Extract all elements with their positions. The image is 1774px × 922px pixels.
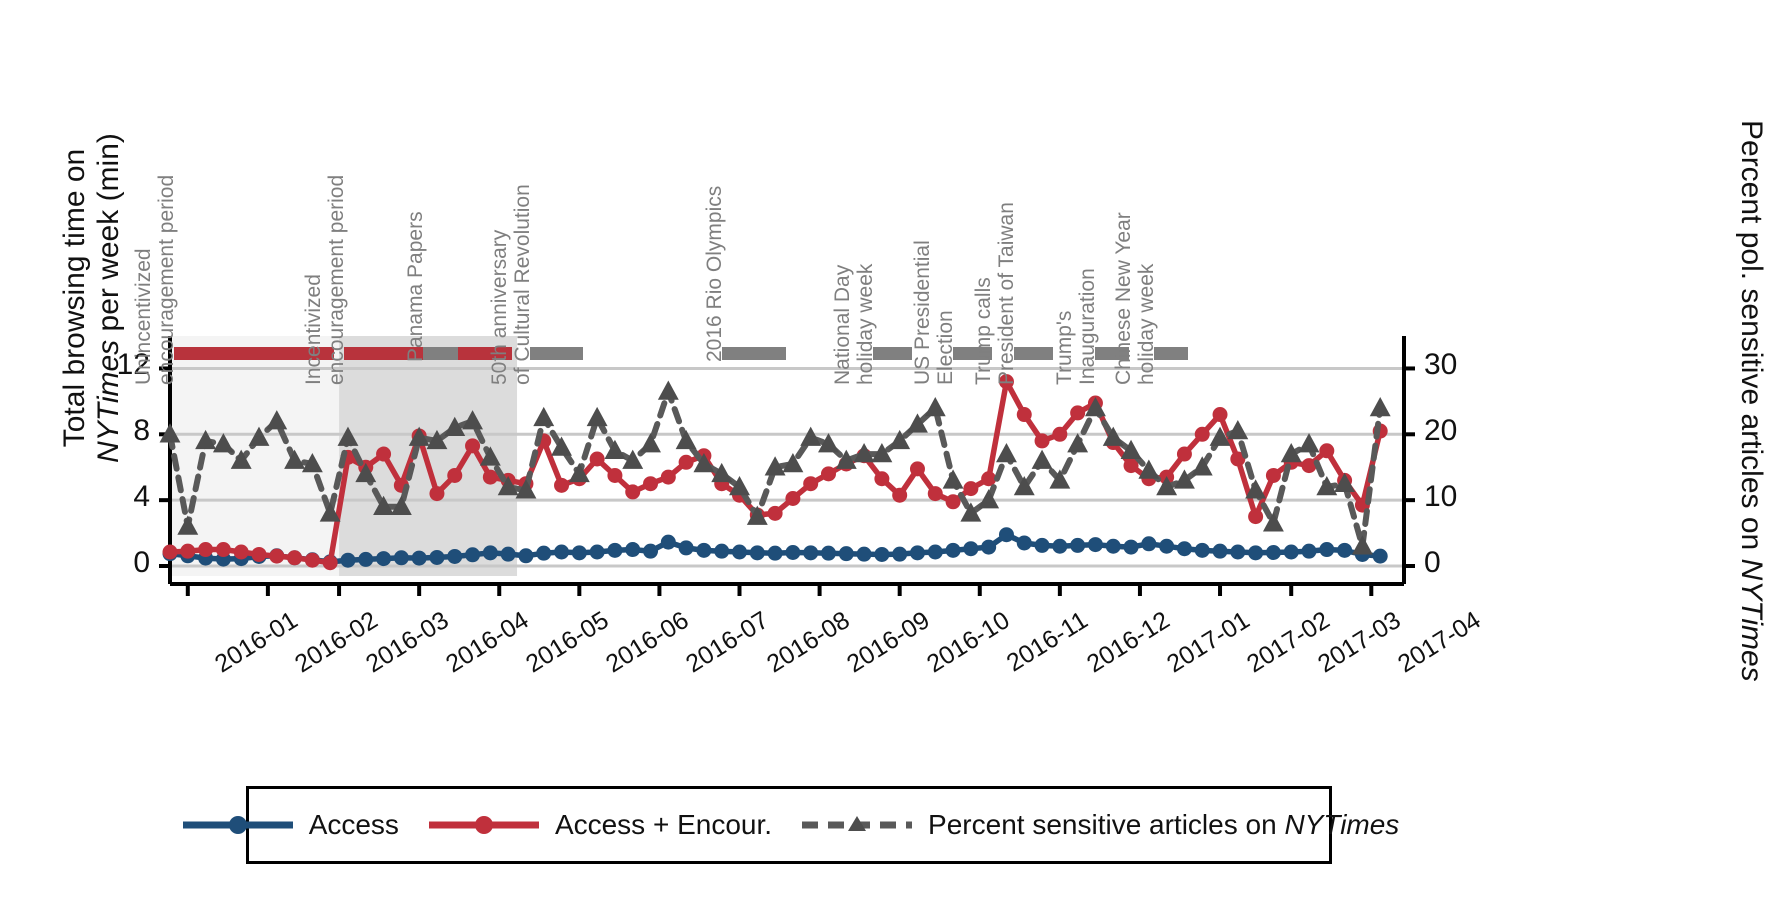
series-marker-0-68: [1373, 549, 1388, 564]
annotation-bar-chinese-new-year-holiday-week: [1154, 347, 1188, 360]
series-marker-0-50: [1052, 539, 1067, 554]
series-marker-2-51: [1067, 433, 1088, 452]
legend-label-access-encour: Access + Encour.: [555, 809, 772, 841]
series-marker-2-28: [658, 381, 679, 400]
series-marker-1-2: [198, 542, 213, 557]
series-marker-1-42: [910, 461, 925, 476]
series-marker-1-44: [946, 494, 961, 509]
series-marker-1-46: [981, 471, 996, 486]
annotation-line: encouragement period: [325, 175, 348, 385]
legend-swatch-access-encour: [425, 810, 543, 840]
series-marker-1-35: [785, 491, 800, 506]
y-axis-right-label: Percent pol. sensitive articles on NYTim…: [1708, 120, 1768, 500]
series-marker-0-63: [1284, 545, 1299, 560]
series-marker-2-68: [1370, 397, 1391, 416]
series-marker-2-43: [925, 397, 946, 416]
series-marker-1-36: [803, 476, 818, 491]
series-marker-0-18: [483, 545, 498, 560]
series-marker-1-65: [1319, 443, 1334, 458]
annotation-line: Unincentivized: [132, 175, 155, 385]
annotation-label-trump-calls-president-taiwan: Trump callsPresident of Taiwan: [972, 202, 1018, 385]
y-tick-label-left-0: 0: [90, 546, 150, 580]
series-marker-0-16: [447, 549, 462, 564]
y-tick-label-right-0: 0: [1424, 546, 1484, 580]
series-marker-1-64: [1302, 458, 1317, 473]
series-marker-1-24: [590, 452, 605, 467]
series-marker-0-41: [892, 547, 907, 562]
annotation-label-national-day-holiday-week: National Dayholiday week: [831, 264, 877, 385]
series-marker-1-1: [180, 544, 195, 559]
legend-item-access[interactable]: Access: [179, 809, 399, 841]
series-marker-0-52: [1088, 537, 1103, 552]
series-marker-2-44: [943, 469, 964, 488]
plot-canvas: [0, 0, 1774, 922]
annotation-line: encouragement period: [155, 175, 178, 385]
series-marker-0-60: [1230, 545, 1245, 560]
legend-label-percent-sensitive: Percent sensitive articles on NYTimes: [928, 809, 1399, 841]
annotation-line: 2016 Rio Olympics: [703, 186, 726, 362]
series-marker-1-50: [1052, 427, 1067, 442]
series-marker-0-33: [750, 545, 765, 560]
series-marker-0-55: [1141, 536, 1156, 551]
series-marker-0-36: [803, 545, 818, 560]
y-tick-label-right-10: 10: [1424, 480, 1484, 514]
annotation-label-trumps-inauguration: Trump'sInauguration: [1053, 268, 1099, 385]
series-marker-1-27: [643, 476, 658, 491]
series-marker-0-44: [946, 543, 961, 558]
series-marker-0-46: [981, 540, 996, 555]
y-tick-label-right-30: 30: [1424, 348, 1484, 382]
annotation-line: of Cultural Revolution: [511, 184, 534, 385]
annotation-bar-panama-papers: [423, 347, 459, 360]
annotation-line: Chinese New Year: [1112, 212, 1135, 385]
series-marker-0-11: [358, 552, 373, 567]
series-marker-0-59: [1213, 544, 1228, 559]
series-marker-0-26: [625, 542, 640, 557]
series-marker-2-67: [1352, 535, 1373, 554]
series-marker-0-37: [821, 546, 836, 561]
series-marker-1-16: [447, 468, 462, 483]
series-marker-0-62: [1266, 545, 1281, 560]
series-marker-1-28: [661, 470, 676, 485]
series-marker-0-31: [714, 544, 729, 559]
series-marker-0-23: [572, 545, 587, 560]
annotation-line: holiday week: [854, 264, 877, 385]
series-marker-2-27: [640, 433, 661, 452]
series-marker-1-0: [163, 545, 178, 560]
series-marker-0-34: [768, 546, 783, 561]
series-marker-1-9: [323, 555, 338, 570]
series-marker-0-49: [1035, 538, 1050, 553]
series-marker-0-25: [607, 543, 622, 558]
series-marker-0-64: [1302, 544, 1317, 559]
series-marker-1-7: [287, 550, 302, 565]
annotation-line: 50th anniversary: [488, 184, 511, 385]
series-marker-1-62: [1266, 468, 1281, 483]
series-marker-0-56: [1159, 539, 1174, 554]
legend-label-access: Access: [309, 809, 399, 841]
series-marker-0-61: [1248, 545, 1263, 560]
annotation-line: Incentivized: [302, 175, 325, 385]
series-marker-0-53: [1106, 539, 1121, 554]
series-marker-1-43: [928, 486, 943, 501]
legend-swatch-access: [179, 810, 297, 840]
series-marker-2-36: [800, 427, 821, 446]
annotation-bar-national-day-holiday-week: [873, 347, 912, 360]
series-marker-0-43: [928, 545, 943, 560]
annotation-line: National Day: [831, 264, 854, 385]
series-marker-2-21: [533, 407, 554, 426]
series-marker-0-48: [1017, 535, 1032, 550]
annotation-line: Trump's: [1053, 268, 1076, 385]
series-marker-0-19: [501, 547, 516, 562]
legend-swatch-percent-sensitive: [798, 810, 916, 840]
legend-item-percent-sensitive[interactable]: Percent sensitive articles on NYTimes: [798, 809, 1399, 841]
series-marker-0-47: [999, 527, 1014, 542]
y-tick-label-right-20: 20: [1424, 414, 1484, 448]
series-marker-0-57: [1177, 541, 1192, 556]
annotation-line: Election: [934, 240, 957, 385]
series-marker-1-5: [251, 547, 266, 562]
annotation-label-50th-anniversary-cultural-revolution: 50th anniversaryof Cultural Revolution: [488, 184, 534, 385]
series-marker-1-57: [1177, 447, 1192, 462]
series-marker-0-29: [679, 540, 694, 555]
series-marker-2-29: [676, 430, 697, 449]
series-marker-2-66: [1334, 473, 1355, 492]
series-marker-2-60: [1227, 420, 1248, 439]
series-marker-1-3: [216, 542, 231, 557]
annotation-label-incentivized-encouragement-period: Incentivizedencouragement period: [302, 175, 348, 385]
series-marker-1-6: [269, 549, 284, 564]
annotation-line: holiday week: [1135, 212, 1158, 385]
series-marker-2-64: [1299, 433, 1320, 452]
series-marker-0-65: [1319, 542, 1334, 557]
series-marker-1-34: [768, 506, 783, 521]
series-marker-2-49: [1032, 450, 1053, 469]
series-marker-0-15: [429, 550, 444, 565]
series-marker-0-24: [590, 545, 605, 560]
annotation-label-panama-papers: Panama Papers: [404, 211, 427, 362]
series-marker-0-12: [376, 551, 391, 566]
series-marker-0-10: [340, 553, 355, 568]
series-marker-1-51: [1070, 405, 1085, 420]
series-marker-1-40: [874, 471, 889, 486]
y-axis-right-label-line2: articles on NYTimes: [1735, 414, 1768, 682]
series-marker-1-58: [1195, 427, 1210, 442]
chart-root: Total browsing time on NYTimes per week …: [0, 0, 1774, 922]
annotation-label-rio-olympics-2016: 2016 Rio Olympics: [703, 186, 726, 362]
annotation-bar-trump-calls-president-taiwan: [1014, 347, 1053, 360]
annotation-line: Inauguration: [1076, 268, 1099, 385]
series-marker-1-26: [625, 484, 640, 499]
series-marker-0-66: [1337, 543, 1352, 558]
series-marker-2-24: [587, 407, 608, 426]
series-marker-1-49: [1035, 433, 1050, 448]
series-marker-0-51: [1070, 538, 1085, 553]
series-marker-1-12: [376, 447, 391, 462]
series-marker-1-41: [892, 488, 907, 503]
y-axis-right-label-line1: Percent pol. sensitive: [1735, 120, 1768, 405]
series-marker-0-38: [839, 546, 854, 561]
y-axis-left-label-line1: Total browsing time on: [58, 149, 91, 447]
series-marker-0-42: [910, 545, 925, 560]
annotation-bar-rio-olympics-2016: [722, 347, 786, 360]
y-tick-label-left-4: 4: [90, 480, 150, 514]
series-marker-1-8: [305, 553, 320, 568]
series-marker-1-48: [1017, 407, 1032, 422]
annotation-line: President of Taiwan: [995, 202, 1018, 385]
series-marker-1-22: [554, 478, 569, 493]
series-marker-1-4: [234, 545, 249, 560]
series-marker-0-27: [643, 544, 658, 559]
series-marker-0-32: [732, 545, 747, 560]
annotation-label-us-presidential-election: US PresidentialElection: [911, 240, 957, 385]
series-marker-0-54: [1124, 540, 1139, 555]
legend: Access Access + Encour. Percent sensitiv…: [246, 786, 1332, 864]
annotation-line: US Presidential: [911, 240, 934, 385]
series-marker-1-45: [963, 481, 978, 496]
legend-item-access-encour[interactable]: Access + Encour.: [425, 809, 772, 841]
series-marker-0-22: [554, 545, 569, 560]
series-marker-0-30: [696, 543, 711, 558]
series-marker-1-25: [607, 468, 622, 483]
series-marker-0-28: [661, 535, 676, 550]
series-marker-0-45: [963, 541, 978, 556]
series-marker-0-21: [536, 546, 551, 561]
series-marker-1-17: [465, 438, 480, 453]
series-marker-1-59: [1213, 407, 1228, 422]
series-marker-1-29: [679, 455, 694, 470]
annotation-bar-50th-anniversary-cultural-revolution: [530, 347, 583, 360]
series-marker-0-20: [518, 548, 533, 563]
series-marker-2-47: [996, 443, 1017, 462]
series-marker-0-40: [874, 547, 889, 562]
series-marker-1-37: [821, 466, 836, 481]
series-marker-1-61: [1248, 509, 1263, 524]
series-marker-0-39: [857, 547, 872, 562]
series-marker-0-13: [394, 550, 409, 565]
annotation-label-unincentivized-encouragement-period: Unincentivizedencouragement period: [132, 175, 178, 385]
annotation-line: Panama Papers: [404, 211, 427, 362]
series-marker-0-17: [465, 547, 480, 562]
series-marker-0-58: [1195, 543, 1210, 558]
series-marker-0-35: [785, 545, 800, 560]
annotation-line: Trump calls: [972, 202, 995, 385]
series-marker-0-14: [412, 551, 427, 566]
annotation-label-chinese-new-year-holiday-week: Chinese New Yearholiday week: [1112, 212, 1158, 385]
y-tick-label-left-8: 8: [90, 414, 150, 448]
series-marker-1-15: [429, 486, 444, 501]
